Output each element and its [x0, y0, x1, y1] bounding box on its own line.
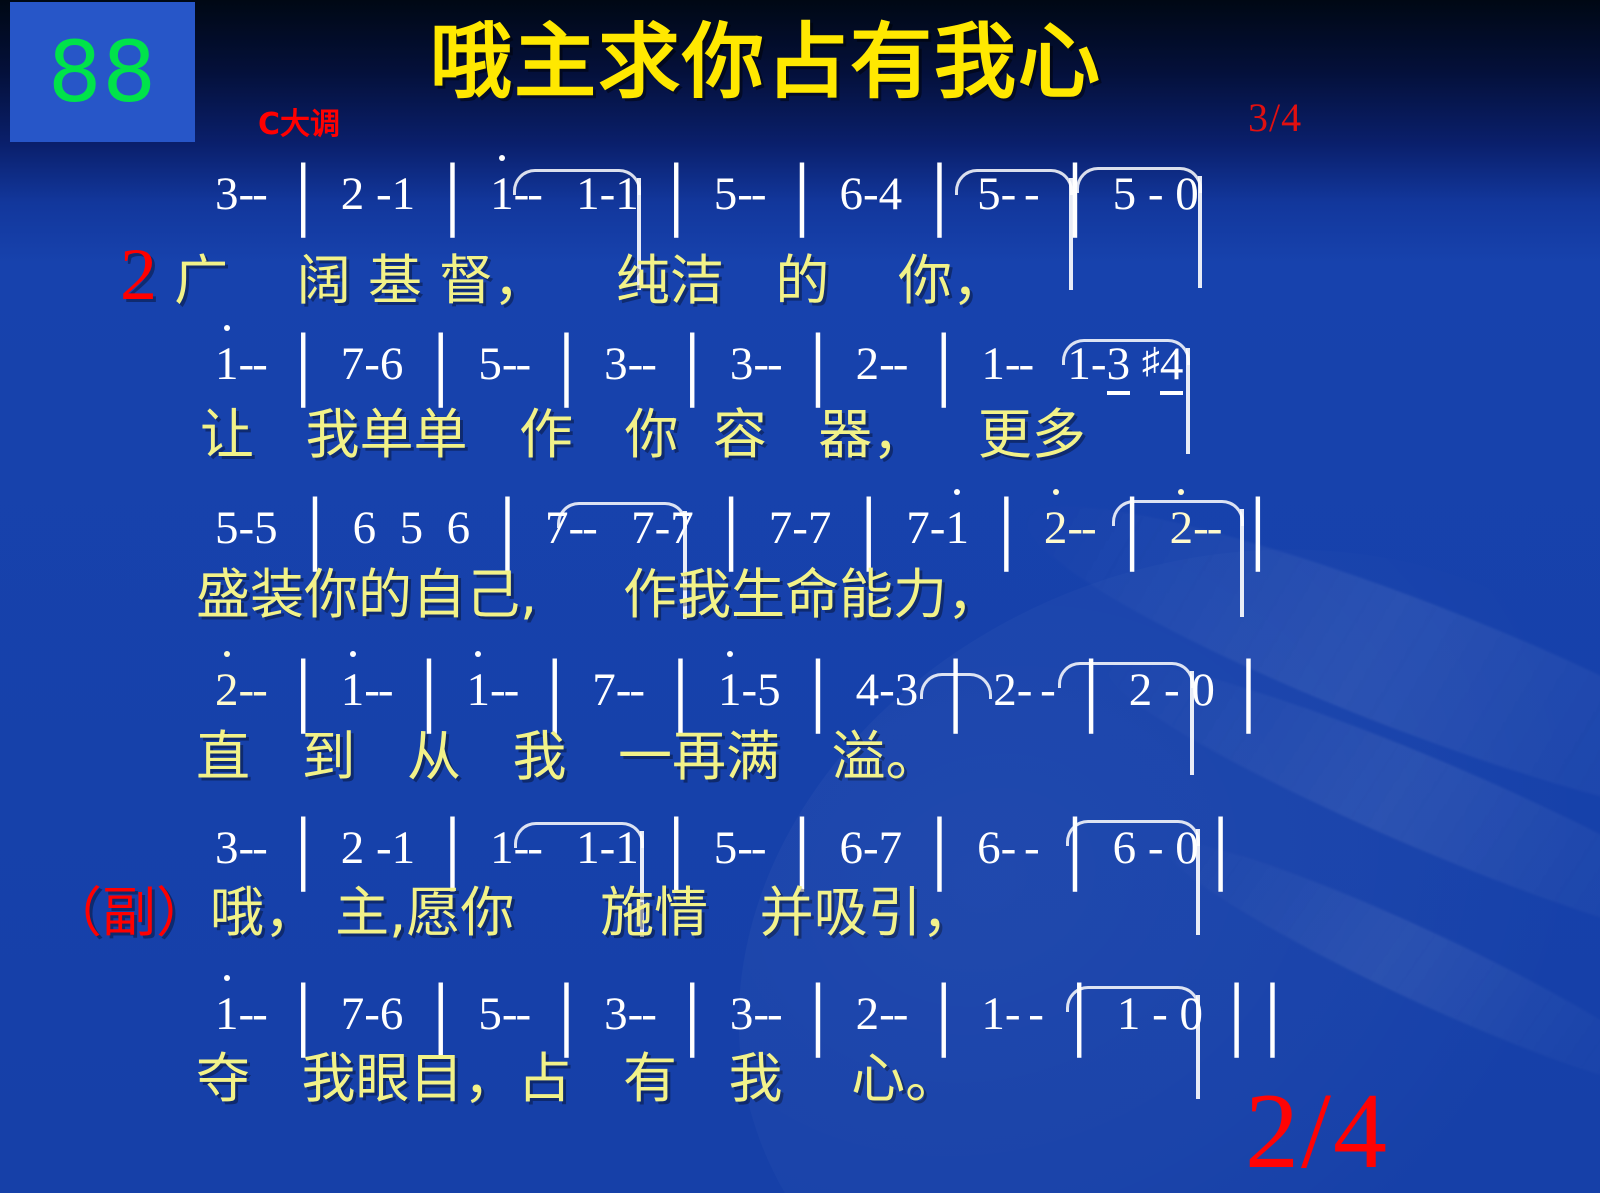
tie-arc [557, 502, 687, 528]
tie-arc [514, 822, 644, 848]
tie-arc [513, 169, 641, 195]
lyric-text: 让 我单单 作 你 容 器， 更多 [200, 403, 1086, 466]
tie-stem [1186, 348, 1190, 454]
tie-stem [1196, 829, 1200, 935]
lyric-text: 盛装你的自己, 作我生命能力， [196, 563, 1001, 626]
lyric-line-6: 夺 我眼目，占 有 我 心。 [196, 1052, 959, 1106]
tie-arc [955, 169, 1073, 195]
key-signature-label: C大调 [258, 110, 340, 140]
song-number: 88 [48, 30, 157, 114]
tie-arc [920, 673, 992, 699]
chorus-marker: （副） [48, 881, 210, 944]
time-signature-top: 3/4 [1248, 98, 1302, 138]
tie-arc [1058, 662, 1194, 688]
tie-stem [1240, 509, 1244, 617]
verse-number: 2 [120, 234, 157, 316]
lyric-line-2: 让 我单单 作 你 容 器， 更多 [200, 408, 1086, 462]
tie-arc [1112, 500, 1244, 526]
tie-stem [1196, 995, 1200, 1099]
slide-canvas: 88 哦主求你占有我心 C大调 3/4 3-- │ 2 -1 │ 1-- 1-1… [0, 0, 1600, 1193]
notation-line-2: 1-- │ 7-6 │ 5-- │ 3-- │ 3-- │ 2-- │ 1-- … [215, 338, 1183, 400]
page-title: 哦主求你占有我心 [430, 22, 1102, 104]
lyric-text: 广 阔 基 督， 纯洁 的 你， [174, 249, 1006, 312]
tie-arc [1076, 167, 1202, 193]
time-signature-bottom: 2/4 [1245, 1078, 1389, 1186]
lyric-text: 哦， 主,愿你 施情 并吸引， [210, 881, 976, 944]
song-number-box: 88 [10, 2, 195, 142]
tie-arc [1066, 986, 1200, 1012]
lyric-line-3: 盛装你的自己, 作我生命能力， [196, 568, 1001, 622]
tie-stem [1069, 178, 1073, 290]
lyric-text: 直 到 从 我 一再满 溢。 [196, 725, 939, 788]
tie-arc [1066, 820, 1200, 846]
tie-arc [1062, 339, 1190, 365]
tie-stem [1190, 671, 1194, 775]
lyric-line-4: 直 到 从 我 一再满 溢。 [196, 730, 939, 784]
lyric-line-5: （副）哦， 主,愿你 施情 并吸引， [48, 886, 976, 940]
lyric-text: 夺 我眼目，占 有 我 心。 [196, 1047, 959, 1110]
lyric-line-1: 2 广 阔 基 督， 纯洁 的 你， [120, 238, 1006, 312]
tie-stem [1198, 176, 1202, 288]
